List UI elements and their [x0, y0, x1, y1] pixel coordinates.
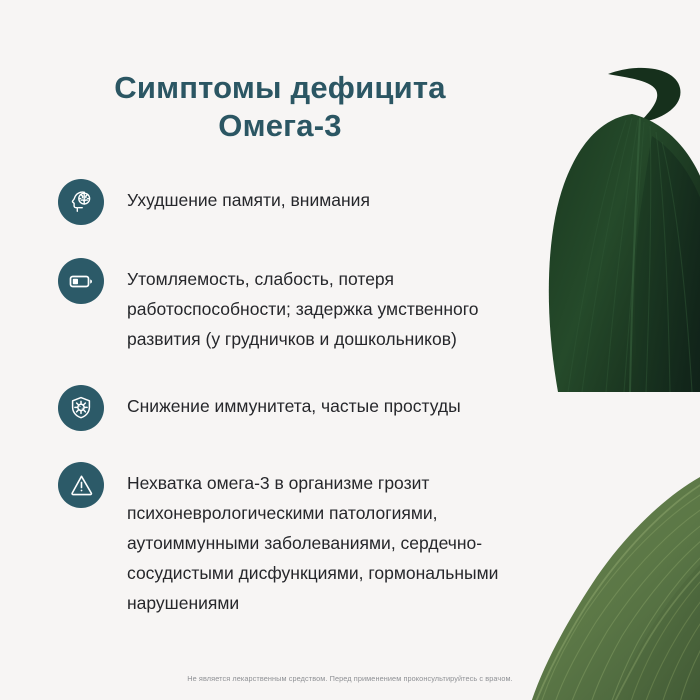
poster-canvas: Симптомы дефицита Омега-3 Ухудшение памя…: [0, 0, 700, 700]
list-item: Нехватка омега-3 в организме грозит псих…: [58, 461, 550, 618]
page-title: Симптомы дефицита Омега-3: [0, 69, 560, 145]
list-item-label: Утомляемость, слабость, потеря работоспо…: [127, 257, 547, 354]
list-item-label: Ухудшение памяти, внимания: [127, 178, 370, 215]
warning-triangle-icon: [58, 462, 104, 508]
disclaimer-text: Не является лекарственным средством. Пер…: [0, 674, 700, 683]
list-item-label: Нехватка омега-3 в организме грозит псих…: [127, 461, 547, 618]
head-brain-icon: [58, 179, 104, 225]
shield-virus-icon: [58, 385, 104, 431]
list-item: Снижение иммунитета, частые простуды: [58, 384, 550, 431]
symptom-list: Ухудшение памяти, внимания Утомляемость,…: [58, 178, 550, 618]
list-item-label: Снижение иммунитета, частые простуды: [127, 384, 461, 421]
low-battery-icon: [58, 258, 104, 304]
list-item: Утомляемость, слабость, потеря работоспо…: [58, 257, 550, 354]
list-item: Ухудшение памяти, внимания: [58, 178, 550, 225]
